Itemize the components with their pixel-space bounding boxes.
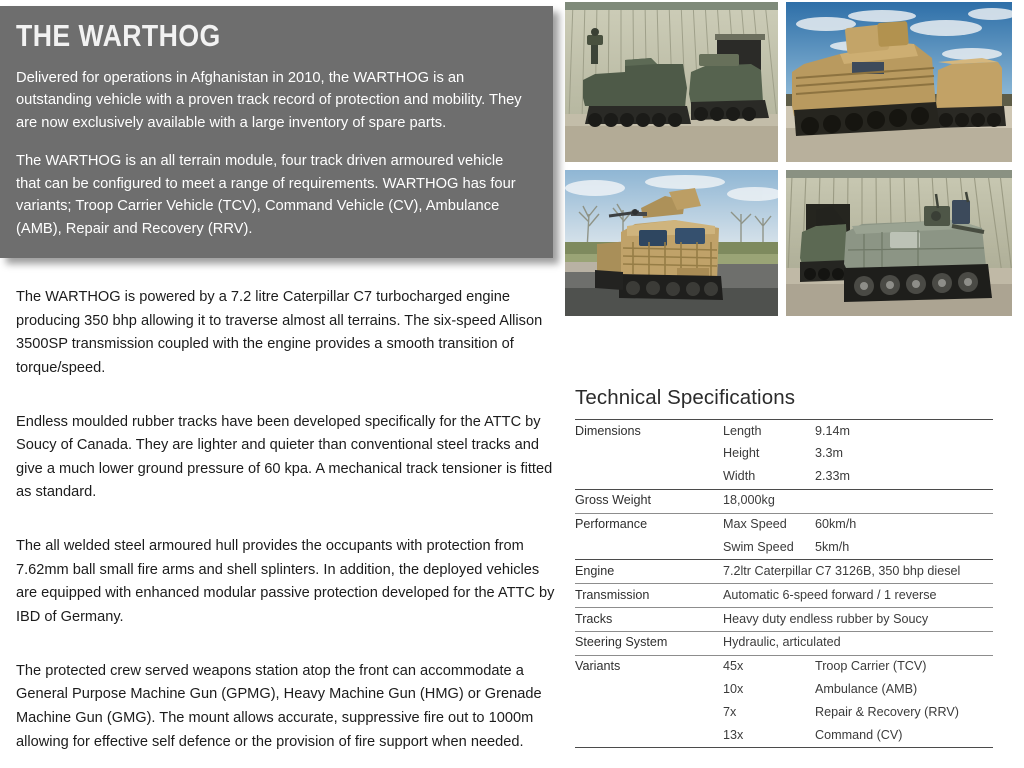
page-title: THE WARTHOG — [16, 20, 459, 53]
spec-label — [575, 679, 723, 702]
photo-green-warthog-weapons-station — [786, 170, 1012, 316]
spec-label — [575, 702, 723, 725]
variant-count: 10x — [723, 679, 815, 702]
table-row: Transmission Automatic 6-speed forward /… — [575, 584, 993, 608]
body-paragraph-engine: The WARTHOG is powered by a 7.2 litre Ca… — [16, 286, 561, 381]
spec-label: Variants — [575, 655, 723, 678]
photo-desert-tan-warthog-convoy — [786, 2, 1012, 162]
variant-count: 45x — [723, 655, 815, 678]
variant-name: Command (CV) — [815, 724, 993, 747]
spec-sub: Length — [723, 420, 815, 443]
variant-count: 7x — [723, 702, 815, 725]
table-row: Gross Weight 18,000kg — [575, 489, 993, 513]
spec-label: Performance — [575, 513, 723, 536]
spec-value: 7.2ltr Caterpillar C7 3126B, 350 bhp die… — [723, 560, 993, 584]
photo-desert-tan-warthog-front — [565, 170, 778, 316]
table-row: Height 3.3m — [575, 443, 993, 466]
table-row: Performance Max Speed 60km/h — [575, 513, 993, 536]
spec-label — [575, 466, 723, 489]
table-row: Width 2.33m — [575, 466, 993, 489]
table-row: Variants 45x Troop Carrier (TCV) — [575, 655, 993, 678]
spec-label: Steering System — [575, 631, 723, 655]
technical-specifications: Technical Specifications Dimensions Leng… — [575, 386, 993, 748]
specs-title: Technical Specifications — [575, 386, 993, 410]
spec-value: 9.14m — [815, 420, 993, 443]
spec-label: Tracks — [575, 608, 723, 632]
spec-sub: Width — [723, 466, 815, 489]
spec-value: 2.33m — [815, 466, 993, 489]
spec-sub: Swim Speed — [723, 536, 815, 559]
body-copy: The WARTHOG is powered by a 7.2 litre Ca… — [16, 286, 561, 754]
variant-name: Ambulance (AMB) — [815, 679, 993, 702]
spec-label: Gross Weight — [575, 489, 723, 513]
table-row: Engine 7.2ltr Caterpillar C7 3126B, 350 … — [575, 560, 993, 584]
variant-name: Repair & Recovery (RRV) — [815, 702, 993, 725]
header-paragraph-2: The WARTHOG is an all terrain module, fo… — [16, 150, 531, 241]
spec-label — [575, 724, 723, 747]
body-paragraph-tracks: Endless moulded rubber tracks have been … — [16, 411, 561, 506]
spec-label: Dimensions — [575, 420, 723, 443]
variant-count: 13x — [723, 724, 815, 747]
table-row: 13x Command (CV) — [575, 724, 993, 747]
spec-value: 5km/h — [815, 536, 993, 559]
spec-label — [575, 536, 723, 559]
photo-grid — [565, 2, 1012, 316]
spec-value: 3.3m — [815, 443, 993, 466]
table-row: 7x Repair & Recovery (RRV) — [575, 702, 993, 725]
spec-sub: Height — [723, 443, 815, 466]
table-row: Steering System Hydraulic, articulated — [575, 631, 993, 655]
spec-value: Hydraulic, articulated — [723, 631, 993, 655]
spec-value: 18,000kg — [723, 489, 993, 513]
spec-sub: Max Speed — [723, 513, 815, 536]
spec-value: Automatic 6-speed forward / 1 reverse — [723, 584, 993, 608]
spec-label — [575, 443, 723, 466]
photo-green-warthog-pair-by-hangar — [565, 2, 778, 162]
body-paragraph-armour: The all welded steel armoured hull provi… — [16, 535, 561, 630]
spec-value: Heavy duty endless rubber by Soucy — [723, 608, 993, 632]
specs-table: Dimensions Length 9.14m Height 3.3m Widt… — [575, 419, 993, 748]
table-row: Tracks Heavy duty endless rubber by Souc… — [575, 608, 993, 632]
header-panel: THE WARTHOG Delivered for operations in … — [0, 6, 553, 258]
header-paragraph-1: Delivered for operations in Afghanistan … — [16, 67, 531, 135]
spec-label: Transmission — [575, 584, 723, 608]
table-row: Swim Speed 5km/h — [575, 536, 993, 559]
table-row: Dimensions Length 9.14m — [575, 420, 993, 443]
spec-label: Engine — [575, 560, 723, 584]
spec-value: 60km/h — [815, 513, 993, 536]
table-row: 10x Ambulance (AMB) — [575, 679, 993, 702]
variant-name: Troop Carrier (TCV) — [815, 655, 993, 678]
body-paragraph-weapons: The protected crew served weapons statio… — [16, 660, 561, 755]
